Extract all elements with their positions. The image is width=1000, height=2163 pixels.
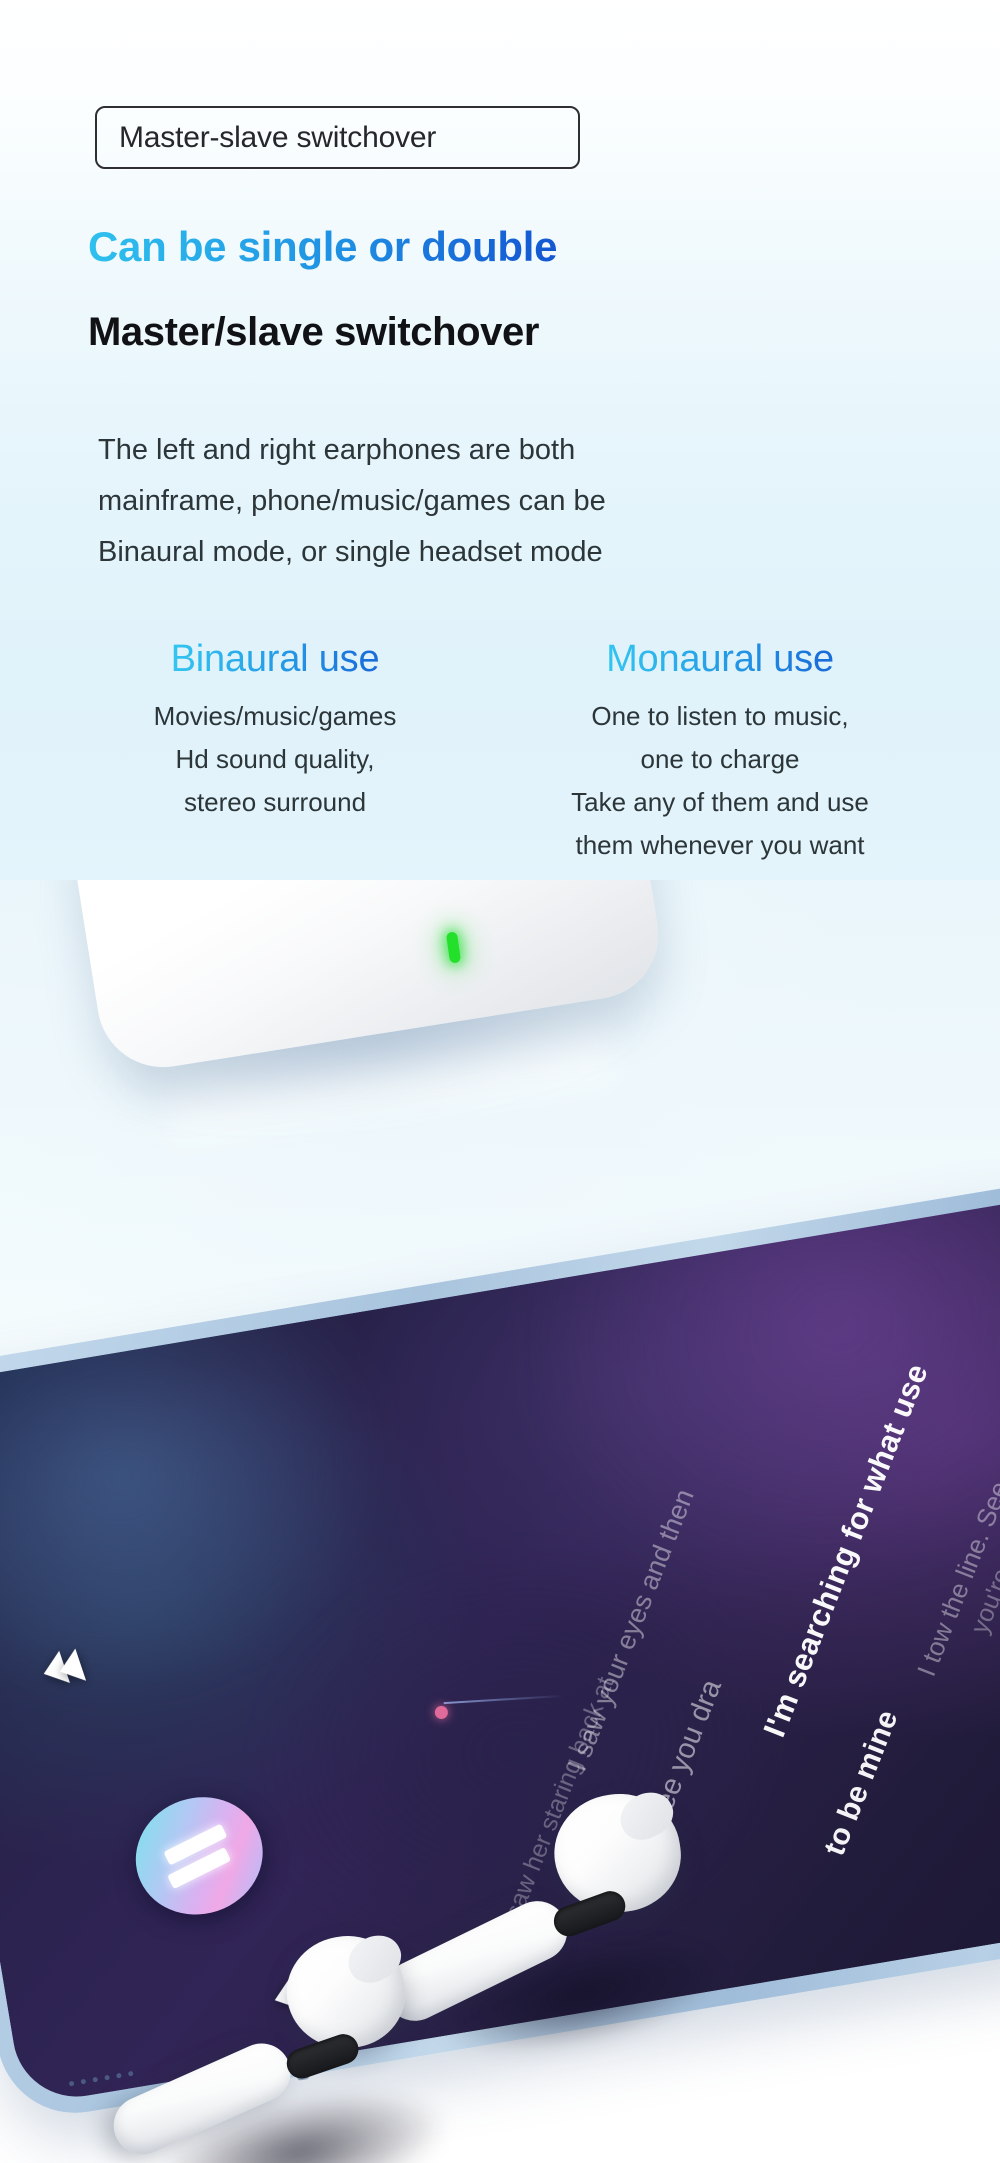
product-detail-page: Master-slave switchover Can be single or… bbox=[0, 0, 1000, 2163]
description-line-1: The left and right earphones are both bbox=[98, 425, 818, 476]
description-line-3: Binaural mode, or single headset mode bbox=[98, 527, 818, 578]
feature-line: one to charge bbox=[500, 738, 940, 781]
feature-columns: Binaural use Movies/music/games Hd sound… bbox=[60, 638, 940, 867]
feature-line: Take any of them and use bbox=[500, 781, 940, 824]
feature-title-monaural: Monaural use bbox=[606, 638, 834, 681]
feature-line: One to listen to music, bbox=[500, 695, 940, 738]
feature-line: stereo surround bbox=[60, 781, 490, 824]
page-title: Master/slave switchover bbox=[88, 310, 539, 355]
lyric-line-active: to be mine bbox=[818, 1706, 906, 1861]
feature-line: Hd sound quality, bbox=[60, 738, 490, 781]
lyric-line-active: I'm searching for what use bbox=[756, 1359, 935, 1742]
feature-line: them whenever you want bbox=[500, 824, 940, 867]
feature-column-monaural: Monaural use One to listen to music, one… bbox=[500, 638, 940, 867]
feature-lines-binaural: Movies/music/games Hd sound quality, ste… bbox=[60, 695, 490, 824]
feature-lines-monaural: One to listen to music, one to charge Ta… bbox=[500, 695, 940, 867]
tagline-heading: Can be single or double bbox=[88, 223, 557, 271]
feature-column-binaural: Binaural use Movies/music/games Hd sound… bbox=[60, 638, 500, 867]
section-badge-label: Master-slave switchover bbox=[97, 121, 436, 155]
description-paragraph: The left and right earphones are both ma… bbox=[98, 425, 818, 578]
description-line-2: mainframe, phone/music/games can be bbox=[98, 476, 818, 527]
section-badge: Master-slave switchover bbox=[95, 106, 580, 169]
charging-case bbox=[70, 880, 690, 1160]
product-photo: I saw her staring back at I saw your eye… bbox=[0, 880, 1000, 2163]
feature-line: Movies/music/games bbox=[60, 695, 490, 738]
feature-title-binaural: Binaural use bbox=[171, 638, 380, 681]
